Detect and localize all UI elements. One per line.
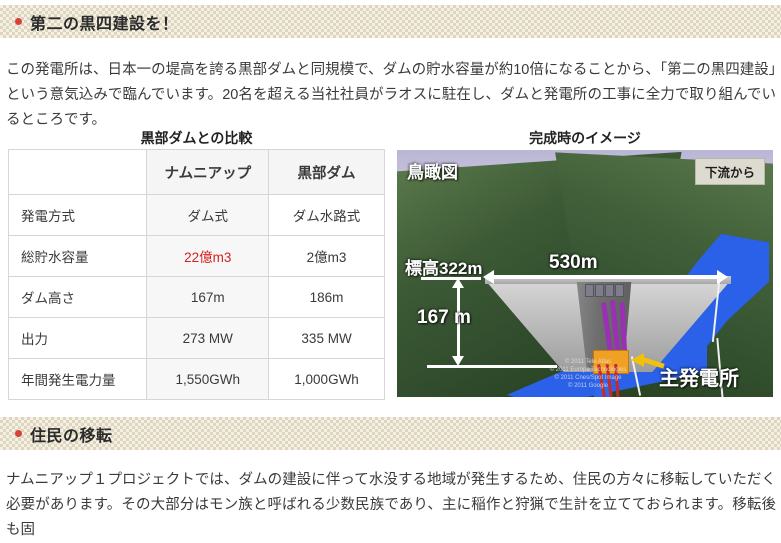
- row-label: ダム高さ: [9, 277, 147, 318]
- table-header-kurobe: 黒部ダム: [269, 150, 385, 195]
- cell-namngiep: 167m: [147, 277, 269, 318]
- cell-kurobe: ダム水路式: [269, 195, 385, 236]
- row-label: 総貯水容量: [9, 236, 147, 277]
- section-title: 第二の黒四建設を！: [30, 10, 179, 34]
- row-label: 発電方式: [9, 195, 147, 236]
- cell-kurobe: 186m: [269, 277, 385, 318]
- intro-paragraph: この発電所は、日本一の堤高を誇る黒部ダムと同規模で、ダムの貯水容量が約10倍にな…: [6, 58, 776, 133]
- spillway-gate-icon: [615, 284, 624, 297]
- table-row: 出力 273 MW 335 MW: [9, 318, 385, 359]
- cell-kurobe: 335 MW: [269, 318, 385, 359]
- dam-base-tick-line: [427, 365, 557, 368]
- dam-birdseye-illustration: © 2011 Tele Atlas © 2011 Europa Technolo…: [397, 150, 773, 397]
- table-header-corner: [9, 150, 147, 195]
- overlay-title-birdseye: 鳥瞰図: [407, 158, 458, 183]
- cell-kurobe: 2億m3: [269, 236, 385, 277]
- row-label: 年間発生電力量: [9, 359, 147, 400]
- table-row: 年間発生電力量 1,550GWh 1,000GWh: [9, 359, 385, 400]
- cell-kurobe: 1,000GWh: [269, 359, 385, 400]
- spillway-gate-icon: [595, 284, 604, 297]
- label-crest-width: 530m: [549, 252, 598, 274]
- section-title: 住民の移転: [30, 422, 113, 446]
- cell-namngiep: 1,550GWh: [147, 359, 269, 400]
- table-row: ダム高さ 167m 186m: [9, 277, 385, 318]
- spillway-gate-icon: [605, 284, 614, 297]
- section-heading-resident-relocation: 住民の移転: [0, 417, 781, 450]
- table-caption: 黒部ダムとの比較: [8, 128, 385, 148]
- table-header-row: ナムニアップ 黒部ダム: [9, 150, 385, 195]
- crest-width-arrow-left-icon: [483, 270, 494, 284]
- cell-namngiep: ダム式: [147, 195, 269, 236]
- dam-height-arrow-up-icon: [452, 278, 464, 288]
- elevation-tick-line: [421, 277, 481, 280]
- cell-namngiep: 22億m3: [147, 236, 269, 277]
- comparison-table: ナムニアップ 黒部ダム 発電方式 ダム式 ダム水路式 総貯水容量 22億m3 2…: [8, 149, 385, 400]
- label-elevation: 標高322m: [405, 254, 482, 279]
- table-header-namngiep: ナムニアップ: [147, 150, 269, 195]
- row-label: 出力: [9, 318, 147, 359]
- cell-namngiep: 273 MW: [147, 318, 269, 359]
- label-main-powerhouse: 主発電所: [659, 362, 739, 391]
- image-caption: 完成時のイメージ: [397, 128, 773, 148]
- map-copyright-text: © 2011 Tele Atlas © 2011 Europa Technolo…: [493, 358, 683, 390]
- bullet-icon: [15, 430, 22, 437]
- crest-width-arrow-right-icon: [717, 270, 728, 284]
- label-dam-height: 167 m: [417, 307, 471, 329]
- residents-paragraph: ナムニアップ１プロジェクトでは、ダムの建設に伴って水没する地域が発生するため、住…: [6, 468, 776, 543]
- table-row: 総貯水容量 22億m3 2億m3: [9, 236, 385, 277]
- bullet-icon: [15, 18, 22, 25]
- view-direction-tag[interactable]: 下流から: [695, 158, 765, 185]
- section-heading-first-kuroyon: 第二の黒四建設を！: [0, 5, 781, 38]
- table-row: 発電方式 ダム式 ダム水路式: [9, 195, 385, 236]
- crest-width-dimension-line: [493, 275, 719, 279]
- spillway-gate-icon: [585, 284, 594, 297]
